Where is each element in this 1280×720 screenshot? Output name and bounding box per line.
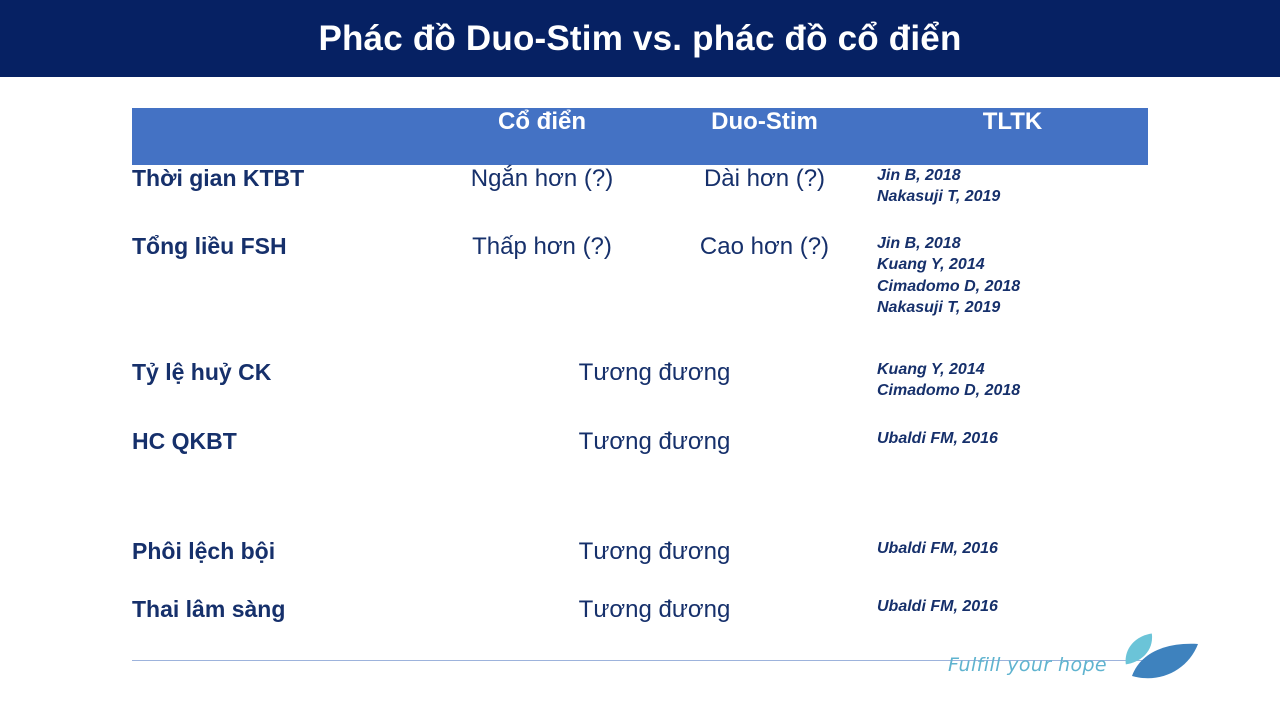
table-header-blank [132, 108, 432, 165]
reference-item: Kuang Y, 2014 [877, 359, 1148, 380]
table-row: Tổng liều FSH Thấp hơn (?) Cao hơn (?) J… [132, 233, 1148, 359]
row-references: Kuang Y, 2014 Cimadomo D, 2018 [877, 359, 1148, 428]
table-row: Thời gian KTBT Ngắn hơn (?) Dài hơn (?) … [132, 165, 1148, 233]
page-title: Phác đồ Duo-Stim vs. phác đồ cổ điển [318, 21, 961, 56]
slide-title-banner: Phác đồ Duo-Stim vs. phác đồ cổ điển [0, 0, 1280, 77]
table-row: Phôi lệch bội Tương đương Ubaldi FM, 201… [132, 538, 1148, 596]
row-value-duo-stim: Cao hơn (?) [652, 233, 877, 359]
reference-item: Nakasuji T, 2019 [877, 297, 1148, 318]
reference-item: Ubaldi FM, 2016 [877, 538, 1148, 559]
row-label: Thai lâm sàng [132, 596, 432, 655]
reference-item: Ubaldi FM, 2016 [877, 596, 1148, 617]
row-label: Thời gian KTBT [132, 165, 432, 233]
table-header-co-dien: Cổ điển [432, 108, 652, 165]
reference-item: Ubaldi FM, 2016 [877, 428, 1148, 449]
reference-item: Cimadomo D, 2018 [877, 276, 1148, 297]
reference-item: Jin B, 2018 [877, 165, 1148, 186]
row-references: Ubaldi FM, 2016 [877, 428, 1148, 538]
logo-tagline: Fulfill your hope [948, 654, 1107, 676]
row-label: Tổng liều FSH [132, 233, 432, 359]
table-header-row: Cổ điển Duo-Stim TLTK [132, 108, 1148, 165]
row-value-merged: Tương đương [432, 538, 877, 596]
row-value-merged: Tương đương [432, 428, 877, 538]
comparison-table: Cổ điển Duo-Stim TLTK Thời gian KTBT Ngắ… [132, 108, 1148, 655]
reference-item: Cimadomo D, 2018 [877, 380, 1148, 401]
row-value-duo-stim: Dài hơn (?) [652, 165, 877, 233]
row-value-co-dien: Thấp hơn (?) [432, 233, 652, 359]
brand-logo: Fulfill your hope [948, 632, 1204, 694]
leaf-logo-icon [1112, 632, 1204, 688]
row-label: Phôi lệch bội [132, 538, 432, 596]
row-references: Ubaldi FM, 2016 [877, 538, 1148, 596]
row-label: Tỷ lệ huỷ CK [132, 359, 432, 428]
reference-item: Kuang Y, 2014 [877, 254, 1148, 275]
table-row: Tỷ lệ huỷ CK Tương đương Kuang Y, 2014 C… [132, 359, 1148, 428]
row-value-merged: Tương đương [432, 359, 877, 428]
reference-item: Jin B, 2018 [877, 233, 1148, 254]
row-references: Jin B, 2018 Nakasuji T, 2019 [877, 165, 1148, 233]
row-value-merged: Tương đương [432, 596, 877, 655]
reference-item: Nakasuji T, 2019 [877, 186, 1148, 207]
row-label: HC QKBT [132, 428, 432, 538]
row-references: Jin B, 2018 Kuang Y, 2014 Cimadomo D, 20… [877, 233, 1148, 359]
table-header-duo-stim: Duo-Stim [652, 108, 877, 165]
table-row: HC QKBT Tương đương Ubaldi FM, 2016 [132, 428, 1148, 538]
row-value-co-dien: Ngắn hơn (?) [432, 165, 652, 233]
table-header-tltk: TLTK [877, 108, 1148, 165]
